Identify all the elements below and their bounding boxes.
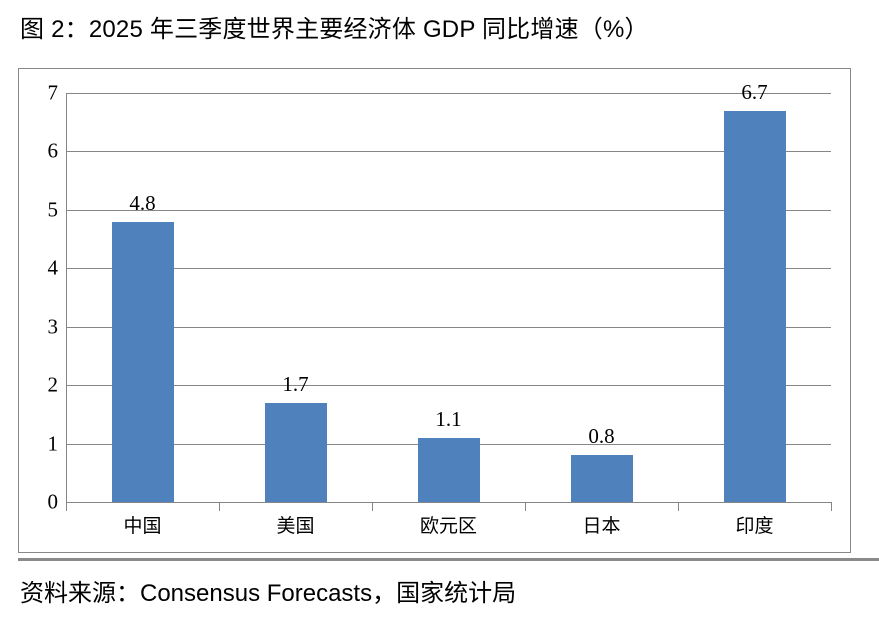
- category-axis-label: 日本: [582, 511, 620, 538]
- bar-value-label: 0.8: [588, 424, 614, 449]
- category-axis-label: 欧元区: [420, 511, 477, 538]
- y-axis-tick-label: 1: [48, 431, 59, 456]
- y-axis-tick-label: 0: [48, 490, 59, 515]
- category-axis-tick: [372, 502, 373, 511]
- bar-value-label: 1.1: [435, 407, 461, 432]
- bar[interactable]: [724, 111, 786, 502]
- category-axis-label: 美国: [276, 511, 314, 538]
- bar-value-label: 4.8: [129, 191, 155, 216]
- y-axis-tick-label: 3: [48, 314, 59, 339]
- category-axis-tick: [525, 502, 526, 511]
- bar[interactable]: [571, 455, 633, 502]
- bar-slot: 1.1: [372, 93, 525, 502]
- bar-series-group: 4.81.71.10.86.7: [66, 93, 831, 502]
- bar-slot: 4.8: [66, 93, 219, 502]
- category-axis-tick: [219, 502, 220, 511]
- category-axis-tick: [831, 502, 832, 511]
- bar-slot: 0.8: [525, 93, 678, 502]
- plot-area: 01234567 4.81.71.10.86.7 中国美国欧元区日本印度: [66, 93, 831, 502]
- bar-value-label: 1.7: [282, 372, 308, 397]
- category-axis-label: 印度: [735, 511, 773, 538]
- category-axis-tick: [66, 502, 67, 511]
- chart-container: 01234567 4.81.71.10.86.7 中国美国欧元区日本印度: [18, 68, 851, 553]
- axis-baseline: [66, 502, 831, 503]
- source-note: 资料来源：Consensus Forecasts，国家统计局: [20, 578, 516, 610]
- y-axis-tick-label: 6: [48, 139, 59, 164]
- y-axis-tick-label: 2: [48, 373, 59, 398]
- y-axis-tick-label: 7: [48, 81, 59, 106]
- bar[interactable]: [418, 438, 480, 502]
- bar-value-label: 6.7: [741, 80, 767, 105]
- bar[interactable]: [265, 403, 327, 502]
- bar-slot: 1.7: [219, 93, 372, 502]
- y-axis-tick-label: 4: [48, 256, 59, 281]
- bar-slot: 6.7: [678, 93, 831, 502]
- category-axis-label: 中国: [123, 511, 161, 538]
- page-title: 图 2：2025 年三季度世界主要经济体 GDP 同比增速（%）: [20, 14, 649, 46]
- y-axis-tick-label: 5: [48, 197, 59, 222]
- footer-divider: [18, 558, 879, 561]
- bar[interactable]: [112, 222, 174, 502]
- category-axis-tick: [678, 502, 679, 511]
